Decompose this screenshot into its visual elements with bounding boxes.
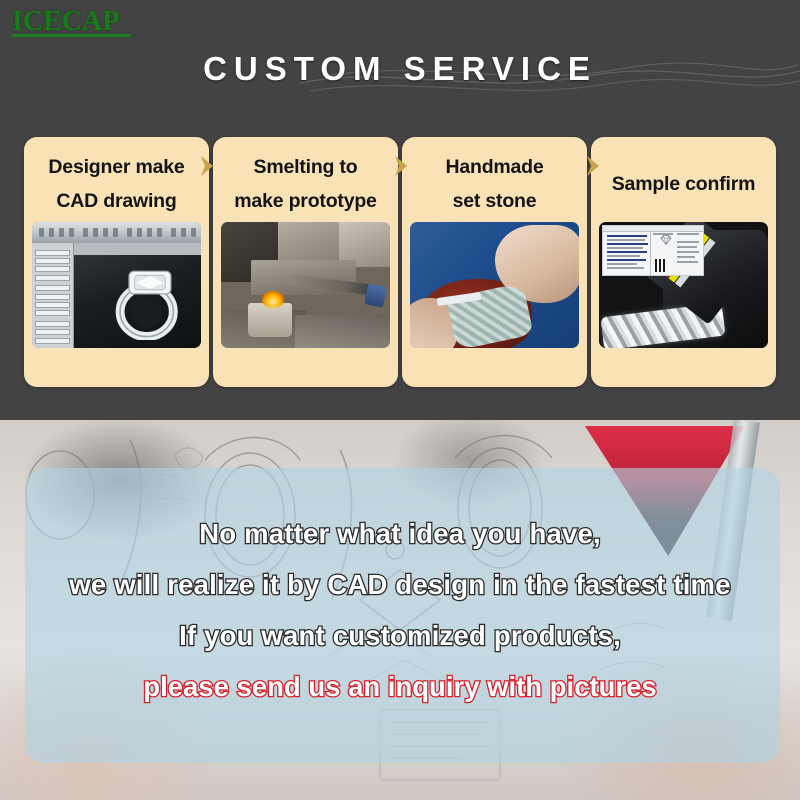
step-card-3-title: Handmade set stone: [445, 150, 543, 218]
chevron-right-icon-1: [196, 152, 218, 180]
step-card-3[interactable]: Handmade set stone: [402, 137, 587, 387]
brand-logo[interactable]: ICECAP: [12, 6, 131, 37]
step-card-2-title: Smelting to make prototype: [234, 150, 376, 218]
step-card-3-photo: [410, 222, 579, 348]
chevron-right-icon-3: [582, 152, 604, 180]
step-card-4[interactable]: Sample confirm: [591, 137, 776, 387]
promo-line-3: If you want customized products,: [0, 610, 800, 661]
promo-line-1: No matter what idea you have,: [0, 508, 800, 559]
page-title: CUSTOM SERVICE: [0, 50, 800, 88]
cad-ring-model: [106, 260, 194, 341]
step-card-4-title: Sample confirm: [612, 150, 756, 218]
step-card-1-photo: [32, 222, 201, 348]
step-card-2-photo: [221, 222, 390, 348]
step-card-1[interactable]: Designer make CAD drawing: [24, 137, 209, 387]
promo-text-block: No matter what idea you have, we will re…: [0, 508, 800, 712]
brand-logo-text: ICECAP: [12, 6, 119, 37]
promo-section: No matter what idea you have, we will re…: [0, 420, 800, 800]
promo-line-4[interactable]: please send us an inquiry with pictures: [0, 661, 800, 712]
chevron-right-icon-2: [390, 152, 412, 180]
custom-service-banner: ICECAP CUSTOM SERVICE Designer make CAD …: [0, 0, 800, 800]
promo-line-2: we will realize it by CAD design in the …: [0, 559, 800, 610]
step-card-2[interactable]: Smelting to make prototype: [213, 137, 398, 387]
certificate-document: [602, 225, 703, 277]
header-section: ICECAP CUSTOM SERVICE Designer make CAD …: [0, 0, 800, 420]
step-card-4-photo: [599, 222, 768, 348]
step-card-1-title: Designer make CAD drawing: [48, 150, 184, 218]
